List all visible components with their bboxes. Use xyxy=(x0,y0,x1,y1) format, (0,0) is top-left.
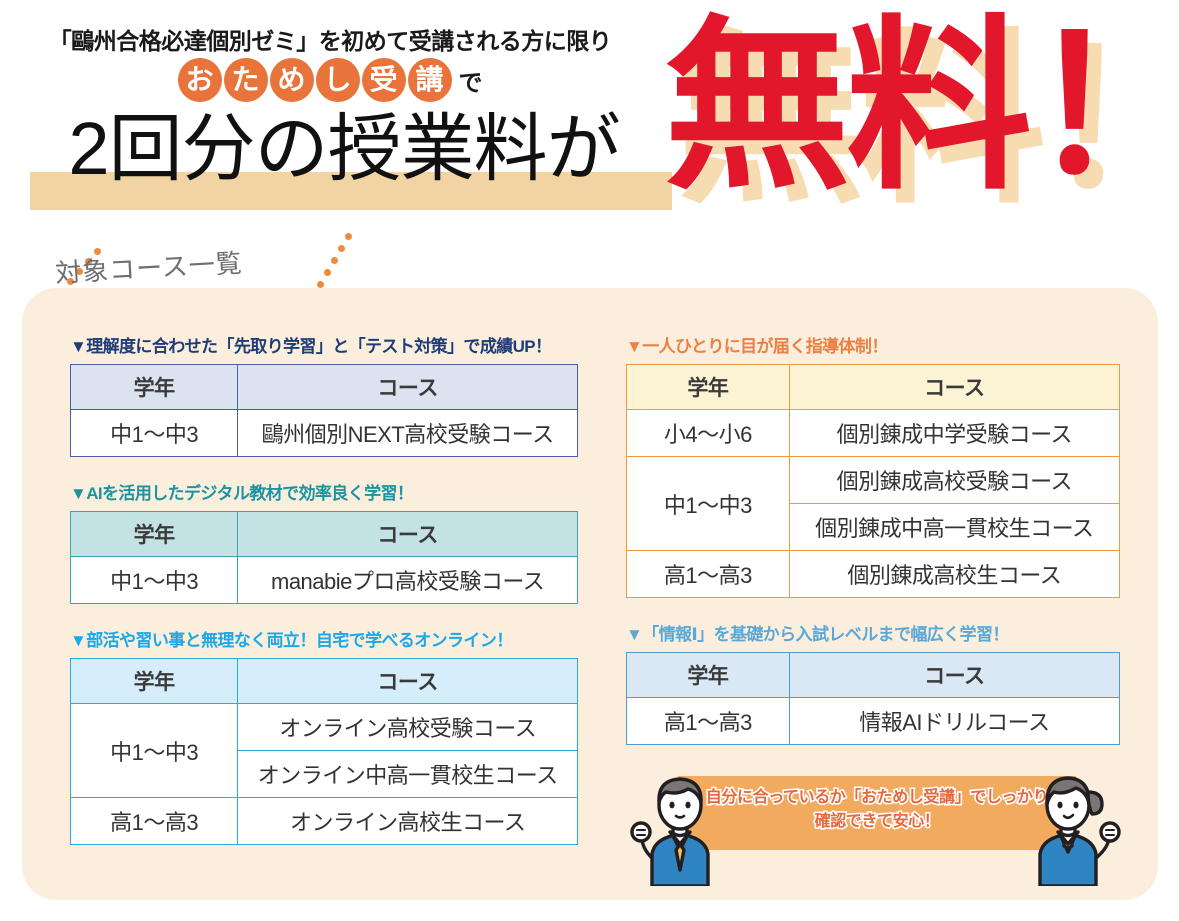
badge-char: し xyxy=(316,58,360,102)
cell-grade: 高1〜高3 xyxy=(71,798,238,845)
table-header-row: 学年 コース xyxy=(71,512,578,557)
column-header-grade: 学年 xyxy=(627,653,790,698)
course-block: ▼AIを活用したデジタル教材で効率良く学習！ 学年 コース 中1〜中3 mana… xyxy=(70,479,578,604)
table-row: 高1〜高3 個別錬成高校生コース xyxy=(627,551,1120,598)
banner-text: 自分に合っているか「おためし受講」でしっかり 確認できて安心！ xyxy=(678,786,1076,834)
badge-char: た xyxy=(224,58,268,102)
block-heading: ▼一人ひとりに目が届く指導体制！ xyxy=(626,332,1120,357)
column-header-course: コース xyxy=(789,653,1119,698)
badge-char: 講 xyxy=(408,58,452,102)
table-row: 高1〜高3 オンライン高校生コース xyxy=(71,798,578,845)
cell-grade: 小4〜小6 xyxy=(627,410,790,457)
column-header-grade: 学年 xyxy=(71,365,238,410)
column-header-grade: 学年 xyxy=(71,512,238,557)
cell-course: 鷗州個別NEXT高校受験コース xyxy=(238,410,578,457)
course-block: ▼部活や習い事と無理なく両立！自宅で学べるオンライン！ 学年 コース 中1〜中3… xyxy=(70,626,578,845)
course-block: ▼理解度に合わせた「先取り学習」と「テスト対策」で成績UP！ 学年 コース 中1… xyxy=(70,332,578,457)
cell-course: 情報AIドリルコース xyxy=(789,698,1119,745)
cell-grade: 中1〜中3 xyxy=(71,704,238,798)
right-course-column: ▼一人ひとりに目が届く指導体制！ 学年 コース 小4〜小6 個別錬成中学受験コー… xyxy=(626,332,1120,767)
table-row: 中1〜中3 鷗州個別NEXT高校受験コース xyxy=(71,410,578,457)
course-list-card: ▼理解度に合わせた「先取り学習」と「テスト対策」で成績UP！ 学年 コース 中1… xyxy=(22,288,1158,900)
table-row: 高1〜高3 情報AIドリルコース xyxy=(627,698,1120,745)
student-boy-illustration xyxy=(628,762,736,886)
cell-grade: 中1〜中3 xyxy=(627,457,790,551)
badge-char: 受 xyxy=(362,58,406,102)
column-header-grade: 学年 xyxy=(71,659,238,704)
dot-decoration-right-icon xyxy=(317,233,361,287)
cell-course: オンライン中高一貫校生コース xyxy=(238,751,578,798)
table-header-row: 学年 コース xyxy=(71,365,578,410)
table-header-row: 学年 コース xyxy=(71,659,578,704)
banner-line-1: 自分に合っているか「おためし受講」でしっかり xyxy=(678,786,1076,810)
course-table: 学年 コース 中1〜中3 オンライン高校受験コース オンライン中高一貫校生コース… xyxy=(70,658,578,845)
course-table: 学年 コース 中1〜中3 manabieプロ高校受験コース xyxy=(70,511,578,604)
course-block: ▼一人ひとりに目が届く指導体制！ 学年 コース 小4〜小6 個別錬成中学受験コー… xyxy=(626,332,1120,598)
headline-group: 2回分の授業料が xyxy=(14,112,674,212)
course-table: 学年 コース 中1〜中3 鷗州個別NEXT高校受験コース xyxy=(70,364,578,457)
cell-course: manabieプロ高校受験コース xyxy=(238,557,578,604)
cell-grade: 中1〜中3 xyxy=(71,557,238,604)
column-header-course: コース xyxy=(789,365,1119,410)
student-girl-illustration xyxy=(1018,762,1126,886)
column-header-course: コース xyxy=(238,365,578,410)
table-row: 中1〜中3 オンライン高校受験コース xyxy=(71,704,578,751)
hero-section: 「鷗州合格必達個別ゼミ」を初めて受講される方に限り お た め し 受 講 で … xyxy=(0,0,1179,232)
cell-grade: 高1〜高3 xyxy=(627,698,790,745)
banner-line-2: 確認できて安心！ xyxy=(678,810,1076,834)
block-heading: ▼AIを活用したデジタル教材で効率良く学習！ xyxy=(70,479,578,504)
badge-char: め xyxy=(270,58,314,102)
cell-course: 個別錬成高校受験コース xyxy=(789,457,1119,504)
cell-grade: 中1〜中3 xyxy=(71,410,238,457)
trial-badge-group: お た め し 受 講 で xyxy=(0,58,660,102)
badge-char: お xyxy=(178,58,222,102)
block-heading: ▼理解度に合わせた「先取り学習」と「テスト対策」で成績UP！ xyxy=(70,332,578,357)
table-header-row: 学年 コース xyxy=(627,653,1120,698)
course-table: 学年 コース 高1〜高3 情報AIドリルコース xyxy=(626,652,1120,745)
free-callout: 無料！ 無料！ xyxy=(664,8,1174,226)
cell-course: 個別錬成高校生コース xyxy=(789,551,1119,598)
hero-lead-text: 「鷗州合格必達個別ゼミ」を初めて受講される方に限り xyxy=(0,22,660,56)
cell-course: 個別錬成中学受験コース xyxy=(789,410,1119,457)
course-table: 学年 コース 小4〜小6 個別錬成中学受験コース 中1〜中3 個別錬成高校受験コ… xyxy=(626,364,1120,598)
cell-course: オンライン高校受験コース xyxy=(238,704,578,751)
column-header-course: コース xyxy=(238,659,578,704)
cell-course: 個別錬成中高一貫校生コース xyxy=(789,504,1119,551)
block-heading: ▼「情報Ⅰ」を基礎から入試レベルまで幅広く学習！ xyxy=(626,620,1120,645)
reassurance-banner-group: 自分に合っているか「おためし受講」でしっかり 確認できて安心！ xyxy=(626,750,1126,886)
table-row: 小4〜小6 個別錬成中学受験コース xyxy=(627,410,1120,457)
badge-suffix-text: で xyxy=(459,63,483,98)
free-text: 無料！ xyxy=(664,8,1174,207)
left-course-column: ▼理解度に合わせた「先取り学習」と「テスト対策」で成績UP！ 学年 コース 中1… xyxy=(70,332,578,867)
block-heading: ▼部活や習い事と無理なく両立！自宅で学べるオンライン！ xyxy=(70,626,578,651)
column-header-course: コース xyxy=(238,512,578,557)
cell-course: オンライン高校生コース xyxy=(238,798,578,845)
table-row: 中1〜中3 manabieプロ高校受験コース xyxy=(71,557,578,604)
table-row: 中1〜中3 個別錬成高校受験コース xyxy=(627,457,1120,504)
column-header-grade: 学年 xyxy=(627,365,790,410)
section-title-group: 対象コース一覧 xyxy=(55,243,243,289)
headline-text: 2回分の授業料が xyxy=(14,112,674,186)
cell-grade: 高1〜高3 xyxy=(627,551,790,598)
course-block: ▼「情報Ⅰ」を基礎から入試レベルまで幅広く学習！ 学年 コース 高1〜高3 情報… xyxy=(626,620,1120,745)
table-header-row: 学年 コース xyxy=(627,365,1120,410)
